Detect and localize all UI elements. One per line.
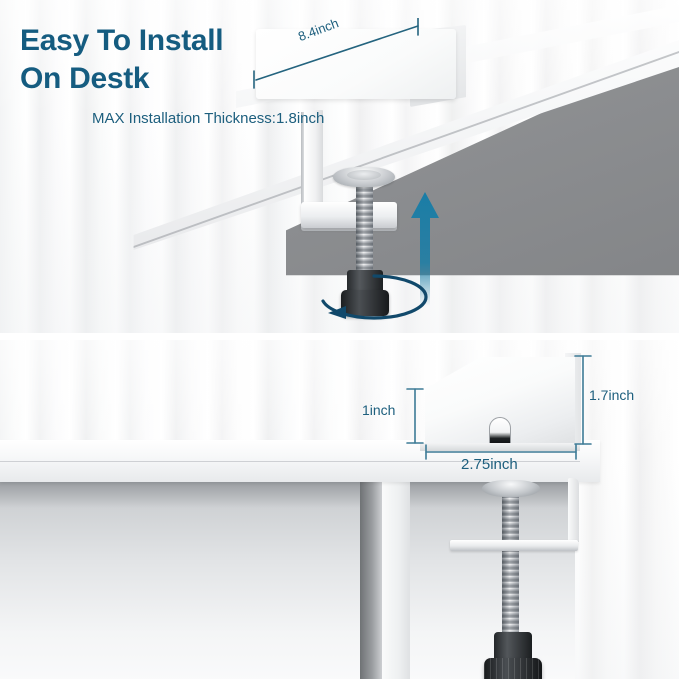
dimension-1inch-label: 1inch <box>362 402 395 418</box>
clamp-screw-rod <box>356 180 373 280</box>
infographic-stage: 8.4inch <box>0 0 679 679</box>
clamp-bracket-tab <box>489 417 511 445</box>
desk-leg-front <box>382 482 410 679</box>
screw-head <box>482 480 540 497</box>
dimension-8_4inch: 8.4inch <box>248 18 426 90</box>
screw-rod <box>502 492 519 640</box>
dimension-2_75inch-label: 2.75inch <box>461 456 518 473</box>
tightening-knob <box>484 658 542 679</box>
clamp-screw-head-inner <box>347 170 381 180</box>
panel-divider <box>0 333 679 340</box>
clamp-arm-vertical <box>568 478 579 542</box>
dimension-1_7inch-label: 1.7inch <box>589 387 634 403</box>
dimension-1inch-line <box>404 383 426 449</box>
clamp-arm-horizontal <box>450 540 578 551</box>
rotate-arrow-icon <box>318 272 430 322</box>
clamp-assembly-bottom <box>440 480 600 679</box>
page-title: Easy To Install On Destk <box>20 22 223 99</box>
dimension-max-thickness-label: MAX Installation Thickness:1.8inch <box>92 110 324 127</box>
clamp-hook-base <box>301 202 397 228</box>
